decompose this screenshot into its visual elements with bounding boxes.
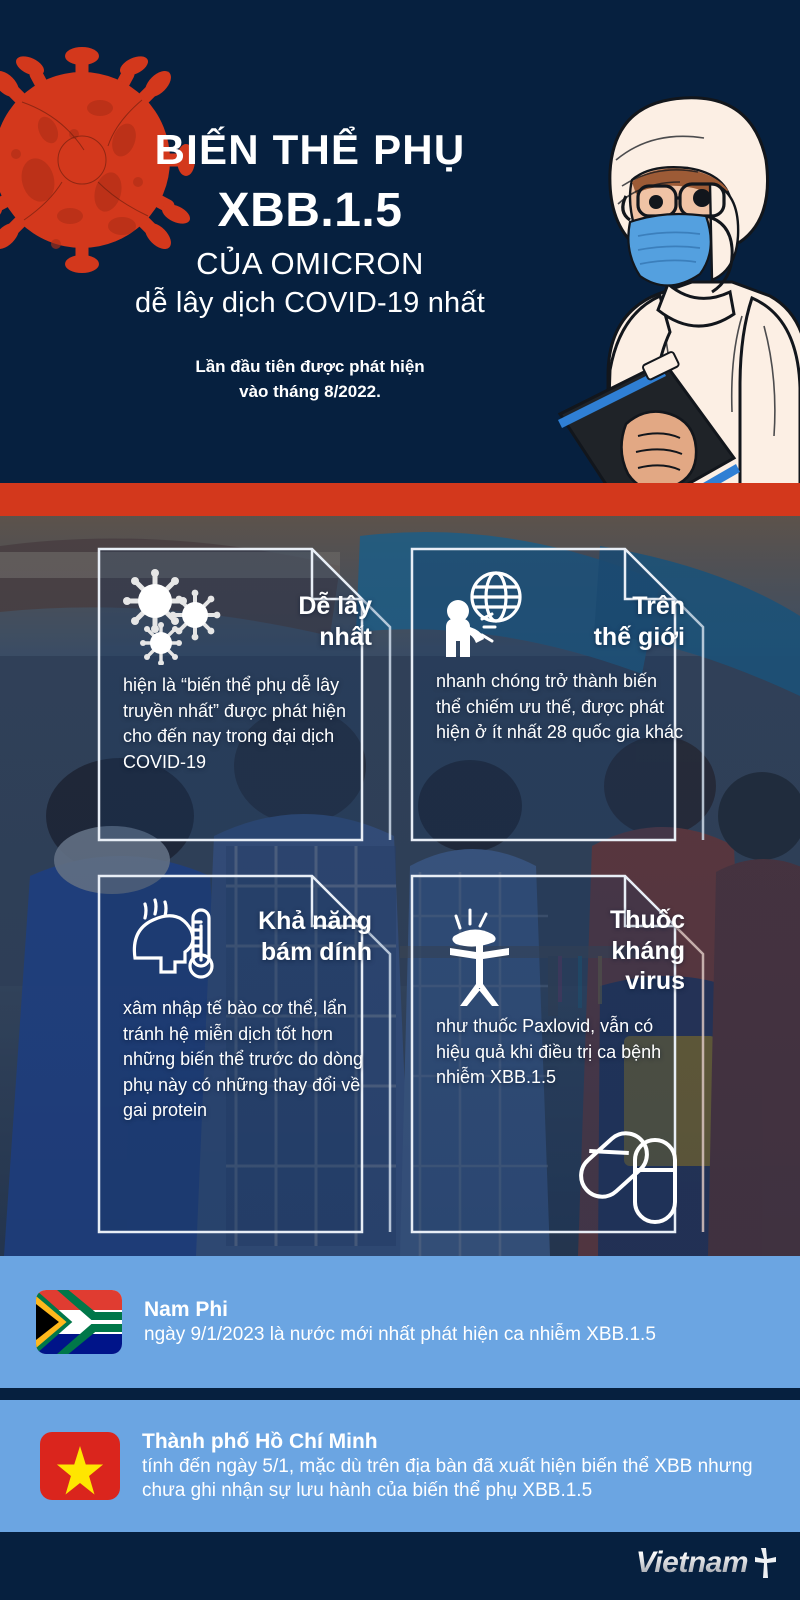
card-body: xâm nhập tế bào cơ thể, lẩn tránh hệ miễ… [123, 996, 372, 1124]
card-header: Dễ lâynhất [123, 569, 372, 665]
orange-divider-band [0, 483, 800, 516]
plus-star-icon [750, 1548, 776, 1578]
subtitle-transmission: dễ lây dịch COVID-19 nhất [0, 286, 620, 321]
south-africa-flag [36, 1290, 122, 1354]
band-title: Nam Phi [144, 1297, 656, 1322]
card-tren-the-gioi: Trênthế giới nhanh chóng trở thành biến … [410, 547, 705, 842]
card-inner: Dễ lâynhất hiện là “biến thể phụ dễ lây … [97, 547, 392, 791]
band-text: Thành phố Hồ Chí Minh tính đến ngày 5/1,… [142, 1429, 800, 1504]
band-text: Nam Phi ngày 9/1/2023 là nước mới nhất p… [144, 1297, 656, 1348]
footer-section: Vietnam [0, 1532, 800, 1600]
variant-name: XBB.1.5 [0, 186, 620, 236]
photo-cards-section: Dễ lâynhất hiện là “biến thể phụ dễ lây … [0, 516, 800, 1256]
vietnamplus-logo: Vietnam [636, 1546, 776, 1580]
virus-particles-icon [123, 569, 227, 665]
pills-capsules-icon [575, 1110, 693, 1228]
card-title: Khả năngbám dính [221, 896, 372, 967]
card-inner: Thuốckhángvirus như thuốc Paxlovid, vẫn … [410, 874, 705, 1107]
band-separator [0, 1388, 800, 1400]
subtitle-omicron: CỦA OMICRON [0, 246, 620, 282]
head-thermometer-fever-icon [123, 896, 219, 988]
card-title: Trênthế giới [534, 569, 685, 652]
person-headache-icon [436, 896, 522, 1006]
card-header: Thuốckhángvirus [436, 896, 685, 1006]
page-title: BIẾN THỂ PHỤ [0, 128, 620, 172]
band-title: Thành phố Hồ Chí Minh [142, 1429, 800, 1454]
card-header: Trênthế giới [436, 569, 685, 661]
note-line-2: vào tháng 8/2022. [239, 382, 381, 401]
band-south-africa: Nam Phi ngày 9/1/2023 là nước mới nhất p… [0, 1256, 800, 1388]
card-inner: Khả năngbám dính xâm nhập tế bào cơ thể,… [97, 874, 392, 1140]
first-detected-note: Lần đầu tiên được phát hiện vào tháng 8/… [0, 355, 620, 404]
card-title: Thuốckhángvirus [524, 905, 685, 997]
card-thuoc-khang-virus: Thuốckhángvirus như thuốc Paxlovid, vẫn … [410, 874, 705, 1234]
note-line-1: Lần đầu tiên được phát hiện [195, 357, 424, 376]
band-desc: ngày 9/1/2023 là nước mới nhất phát hiện… [144, 1323, 656, 1347]
card-body: như thuốc Paxlovid, vẫn có hiệu quả khi … [436, 1014, 685, 1091]
globe-person-coughing-icon [436, 569, 532, 661]
card-body: hiện là “biến thể phụ dễ lây truyền nhất… [123, 673, 372, 775]
band-desc: tính đến ngày 5/1, mặc dù trên địa bàn đ… [142, 1455, 800, 1504]
card-inner: Trênthế giới nhanh chóng trở thành biến … [410, 547, 705, 762]
logo-text: Vietnam [636, 1546, 748, 1580]
card-body: nhanh chóng trở thành biến thể chiếm ưu … [436, 669, 685, 746]
infographic-page: BIẾN THỂ PHỤ XBB.1.5 CỦA OMICRON dễ lây … [0, 0, 800, 1600]
card-title: Dễ lâynhất [229, 569, 372, 652]
card-de-lay-nhat: Dễ lâynhất hiện là “biến thể phụ dễ lây … [97, 547, 392, 842]
vietnam-flag [40, 1432, 120, 1500]
header-text-block: BIẾN THỂ PHỤ XBB.1.5 CỦA OMICRON dễ lây … [0, 128, 620, 404]
header-section: BIẾN THỂ PHỤ XBB.1.5 CỦA OMICRON dễ lây … [0, 0, 800, 488]
card-kha-nang-bam-dinh: Khả năngbám dính xâm nhập tế bào cơ thể,… [97, 874, 392, 1234]
card-header: Khả năngbám dính [123, 896, 372, 988]
band-ho-chi-minh-city: Thành phố Hồ Chí Minh tính đến ngày 5/1,… [0, 1400, 800, 1532]
